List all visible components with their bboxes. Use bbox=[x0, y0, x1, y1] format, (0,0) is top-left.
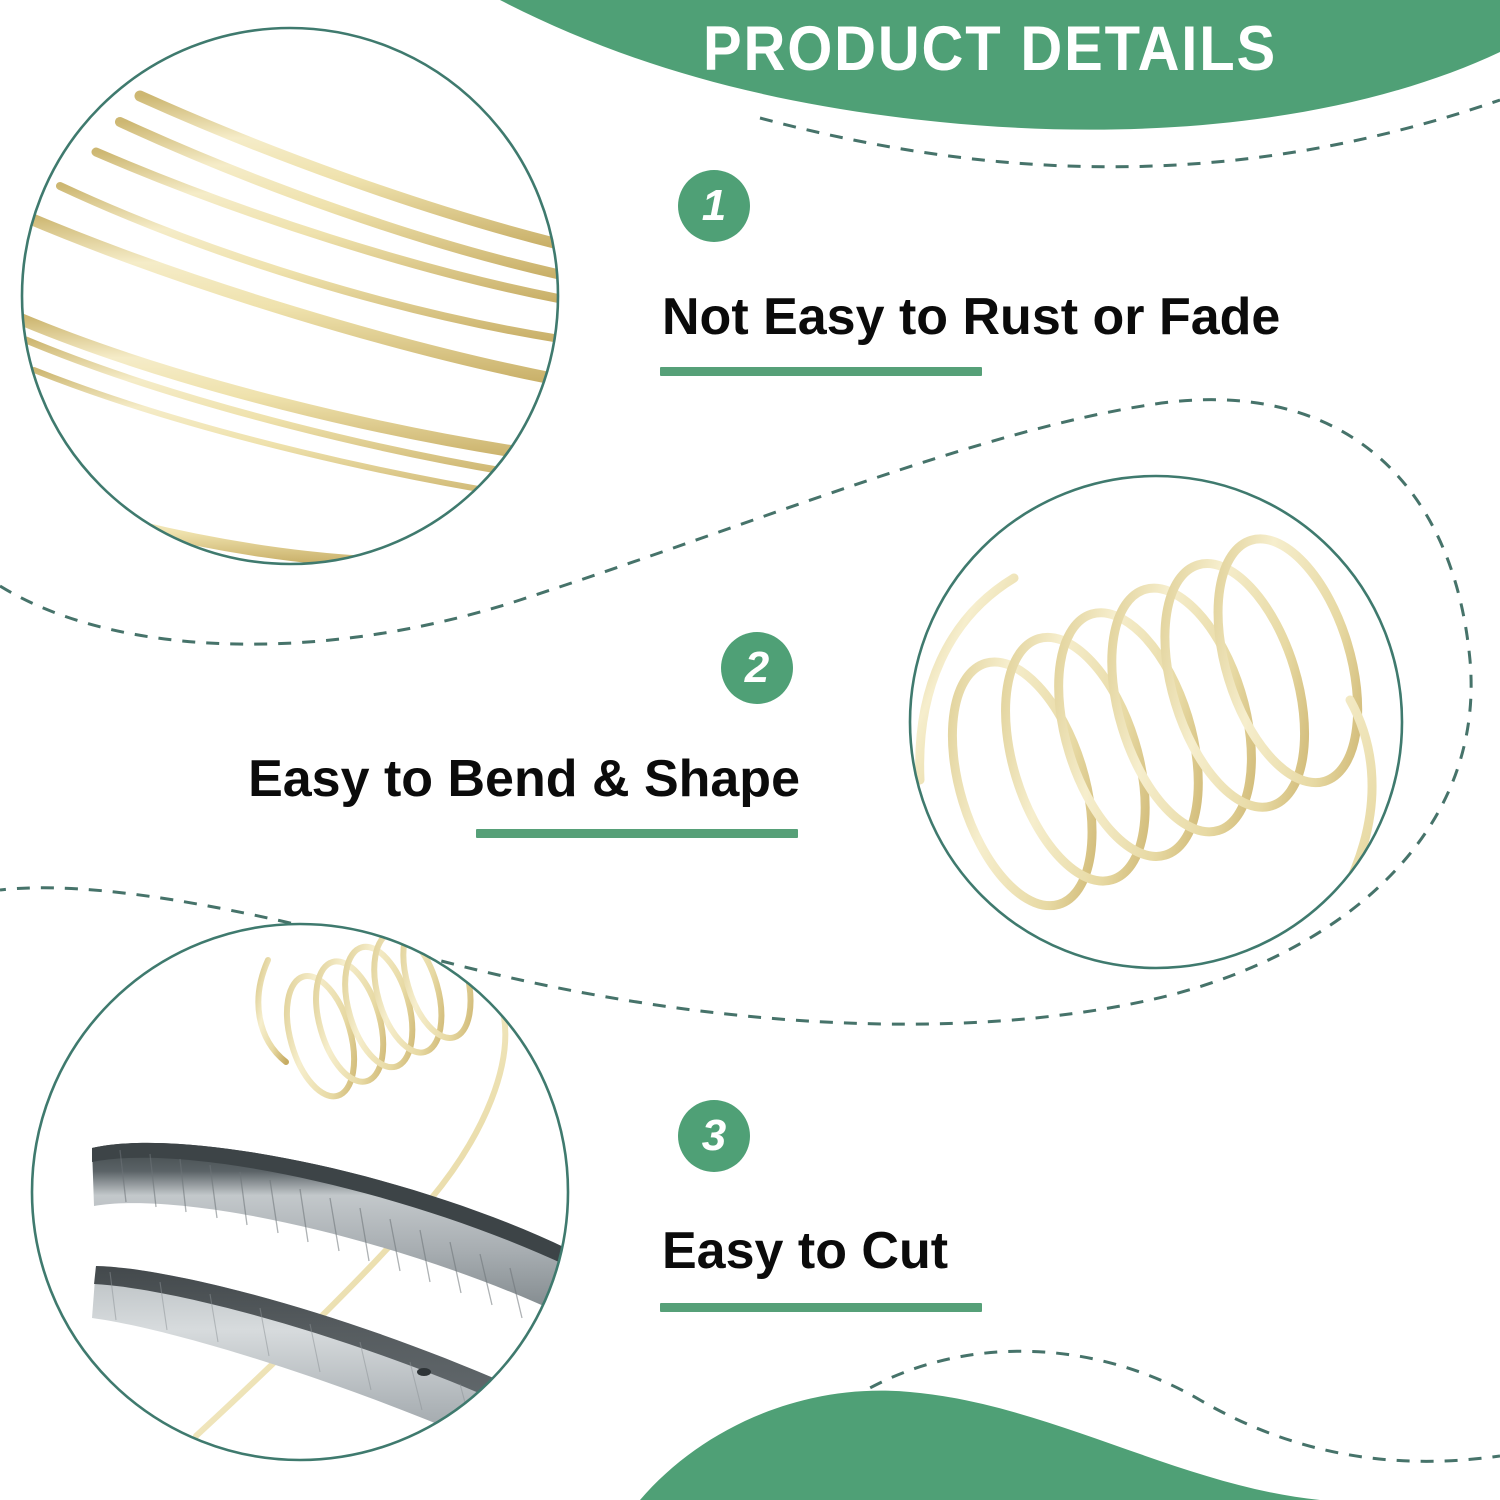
feature-title-2: Easy to Bend & Shape bbox=[248, 752, 800, 807]
feature-block-2: 2 Easy to Bend & Shape bbox=[255, 632, 800, 838]
product-details-infographic: PRODUCT DETAILS 1 Not Easy to Rust or Fa… bbox=[0, 0, 1500, 1500]
feature-underline-2 bbox=[476, 829, 798, 838]
feature-number-badge-1: 1 bbox=[678, 170, 750, 242]
feature-block-3: 3 Easy to Cut bbox=[660, 1100, 982, 1312]
feature-underline-1 bbox=[660, 367, 982, 376]
gold-wire-strands-photo bbox=[18, 26, 576, 586]
scissor-pivot bbox=[417, 1368, 431, 1376]
feature-underline-3 bbox=[660, 1303, 982, 1312]
feature-block-1: 1 Not Easy to Rust or Fade bbox=[660, 170, 1280, 376]
page-title: PRODUCT DETAILS bbox=[668, 6, 1312, 92]
footer-shape bbox=[640, 1391, 1320, 1500]
feature-title-3: Easy to Cut bbox=[662, 1224, 982, 1279]
scissors-cutting-gold-wire-photo bbox=[30, 910, 592, 1478]
feature-title-1: Not Easy to Rust or Fade bbox=[662, 290, 1280, 345]
feature-number-badge-2: 2 bbox=[721, 632, 793, 704]
feature-number-badge-3: 3 bbox=[678, 1100, 750, 1172]
